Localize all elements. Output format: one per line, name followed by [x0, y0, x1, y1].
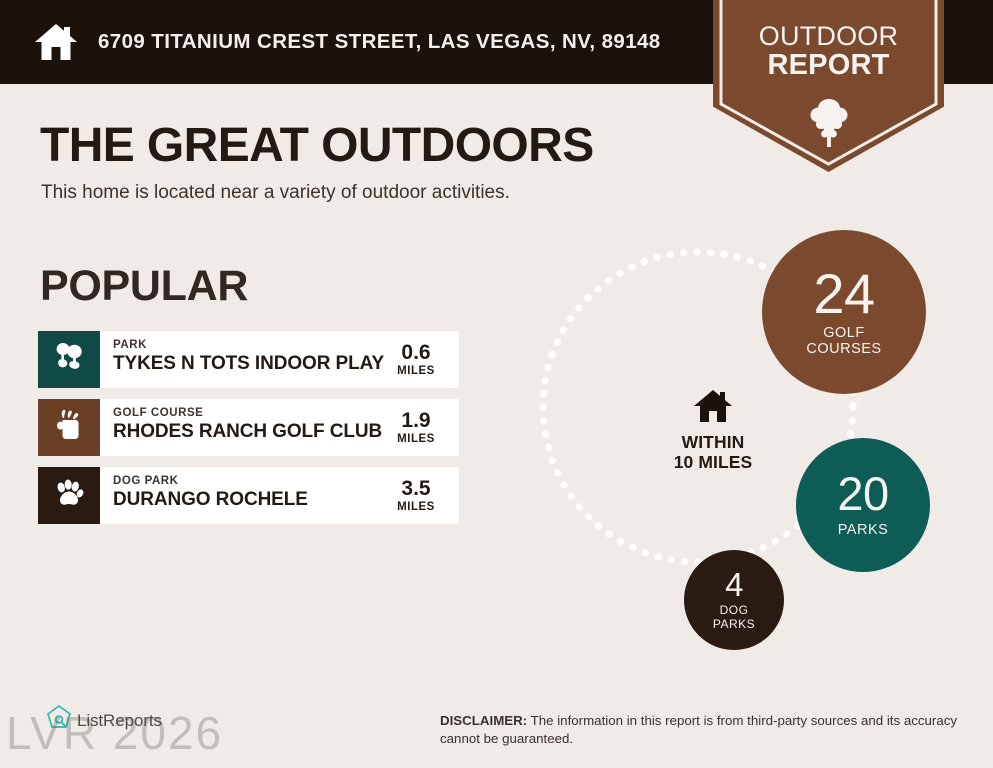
stat-circle-dog-parks[interactable]: 4 DOG PARKS — [684, 550, 784, 650]
radius-center-marker: WITHIN 10 MILES — [648, 388, 778, 473]
listreports-house-logo-icon — [46, 704, 72, 737]
distance-value: 0.6 — [385, 342, 447, 363]
stat-label: GOLF COURSES — [806, 325, 881, 357]
golf-bag-icon — [53, 408, 85, 447]
page-subtitle: This home is located near a variety of o… — [41, 182, 510, 204]
dogpark-icon-tile — [38, 467, 100, 524]
list-item-distance: 3.5 MILES — [385, 478, 459, 512]
outdoor-report-badge: OUTDOOR REPORT — [713, 0, 944, 172]
list-item-text: GOLF COURSE RHODES RANCH GOLF CLUB — [100, 399, 385, 456]
disclaimer-label: DISCLAIMER: — [440, 713, 527, 728]
distance-unit: MILES — [385, 433, 447, 445]
park-icon-tile — [38, 331, 100, 388]
popular-section-title: POPULAR — [40, 262, 248, 311]
list-item-name: DURANGO ROCHELE — [113, 489, 385, 510]
home-icon — [648, 388, 778, 429]
tree-icon — [713, 97, 944, 154]
badge-title-line1: OUTDOOR — [713, 22, 944, 50]
golf-icon-tile — [38, 399, 100, 456]
distance-value: 1.9 — [385, 410, 447, 431]
stat-value: 24 — [813, 267, 874, 320]
list-item-distance: 1.9 MILES — [385, 410, 459, 444]
list-item-category: GOLF COURSE — [113, 407, 385, 419]
list-item[interactable]: PARK TYKES N TOTS INDOOR PLAY 0.6 MILES — [38, 331, 459, 388]
paw-print-icon — [53, 477, 85, 514]
distance-value: 3.5 — [385, 478, 447, 499]
list-item-category: DOG PARK — [113, 475, 385, 487]
radius-label-line1: WITHIN — [682, 432, 745, 452]
stat-circle-parks[interactable]: 20 PARKS — [796, 438, 930, 572]
popular-list: PARK TYKES N TOTS INDOOR PLAY 0.6 MILES — [38, 331, 459, 535]
stat-value: 20 — [837, 472, 888, 517]
stat-value: 4 — [725, 569, 743, 600]
listreports-logo[interactable]: ListReports — [46, 704, 162, 737]
proximity-infographic: 24 GOLF COURSES 20 PARKS 4 DOG PARKS — [500, 210, 993, 680]
park-trees-icon — [52, 340, 86, 379]
property-address: 6709 TITANIUM CREST STREET, LAS VEGAS, N… — [98, 30, 661, 54]
distance-unit: MILES — [385, 501, 447, 513]
stat-label: DOG PARKS — [713, 604, 755, 631]
radius-label-line2: 10 MILES — [674, 452, 753, 472]
outdoor-report-page: 6709 TITANIUM CREST STREET, LAS VEGAS, N… — [0, 0, 993, 768]
stat-label: PARKS — [838, 522, 889, 538]
list-item-name: TYKES N TOTS INDOOR PLAY — [113, 353, 385, 374]
list-item-category: PARK — [113, 339, 385, 351]
distance-unit: MILES — [385, 365, 447, 377]
list-item[interactable]: GOLF COURSE RHODES RANCH GOLF CLUB 1.9 M… — [38, 399, 459, 456]
list-item-text: PARK TYKES N TOTS INDOOR PLAY — [100, 331, 385, 388]
stat-circle-golf-courses[interactable]: 24 GOLF COURSES — [762, 230, 926, 394]
home-icon — [34, 22, 78, 62]
badge-title: OUTDOOR REPORT — [713, 22, 944, 80]
disclaimer-text: DISCLAIMER: The information in this repo… — [440, 712, 960, 749]
header-content: 6709 TITANIUM CREST STREET, LAS VEGAS, N… — [34, 0, 661, 84]
list-item-distance: 0.6 MILES — [385, 342, 459, 376]
badge-title-line2: REPORT — [713, 50, 944, 80]
list-item-text: DOG PARK DURANGO ROCHELE — [100, 467, 385, 524]
listreports-brand-name: ListReports — [77, 711, 162, 731]
list-item[interactable]: DOG PARK DURANGO ROCHELE 3.5 MILES — [38, 467, 459, 524]
page-title: THE GREAT OUTDOORS — [40, 118, 594, 173]
list-item-name: RHODES RANCH GOLF CLUB — [113, 421, 385, 442]
footer: ListReports LVR 2026 DISCLAIMER: The inf… — [0, 690, 993, 768]
